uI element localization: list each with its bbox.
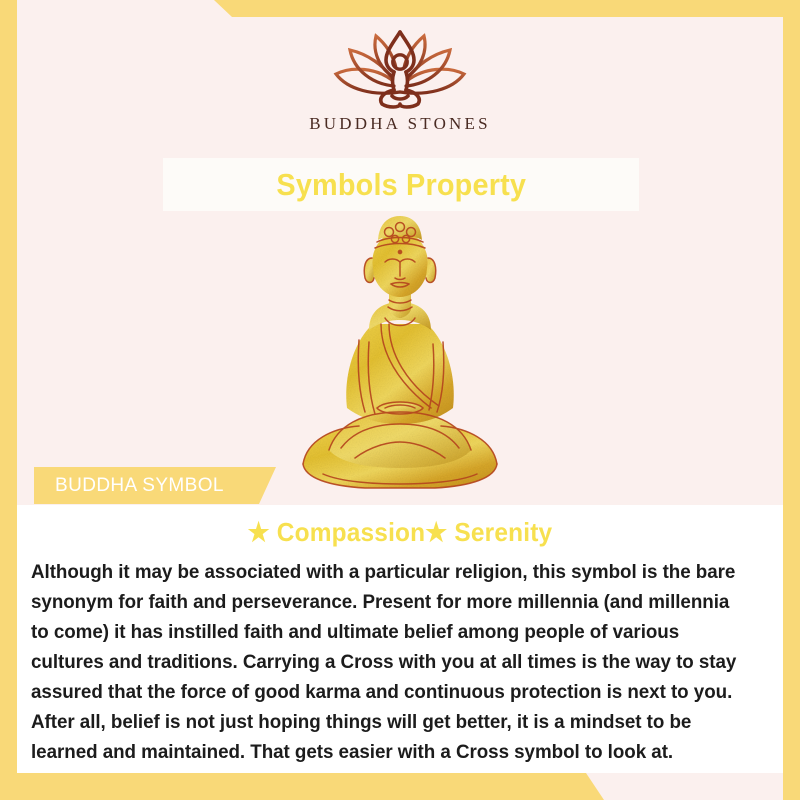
product-info-banner: BUDDHA STONES Symbols Property: [0, 0, 800, 800]
category-tag: BUDDHA SYMBOL: [34, 467, 276, 504]
page-title-band: Symbols Property: [163, 158, 639, 211]
content-subtitle: ★ Compassion★ Serenity: [40, 517, 760, 548]
decorative-left-stripe: [0, 0, 17, 800]
header-section: BUDDHA STONES Symbols Property: [17, 17, 783, 505]
golden-buddha-statue: [285, 212, 515, 502]
content-paragraph: Although it may be associated with a par…: [31, 558, 751, 768]
content-section: ★ Compassion★ Serenity Although it may b…: [17, 505, 783, 773]
brand-logo: BUDDHA STONES: [17, 26, 783, 134]
category-tag-label: BUDDHA SYMBOL: [55, 475, 224, 497]
decorative-bottom-stripe: [0, 773, 800, 800]
lotus-meditation-icon: [314, 26, 486, 110]
page-title: Symbols Property: [276, 167, 526, 203]
decorative-right-stripe: [783, 0, 800, 800]
decorative-top-stripe: [0, 0, 800, 17]
hero-image: [17, 212, 783, 502]
brand-name: BUDDHA STONES: [309, 114, 491, 134]
